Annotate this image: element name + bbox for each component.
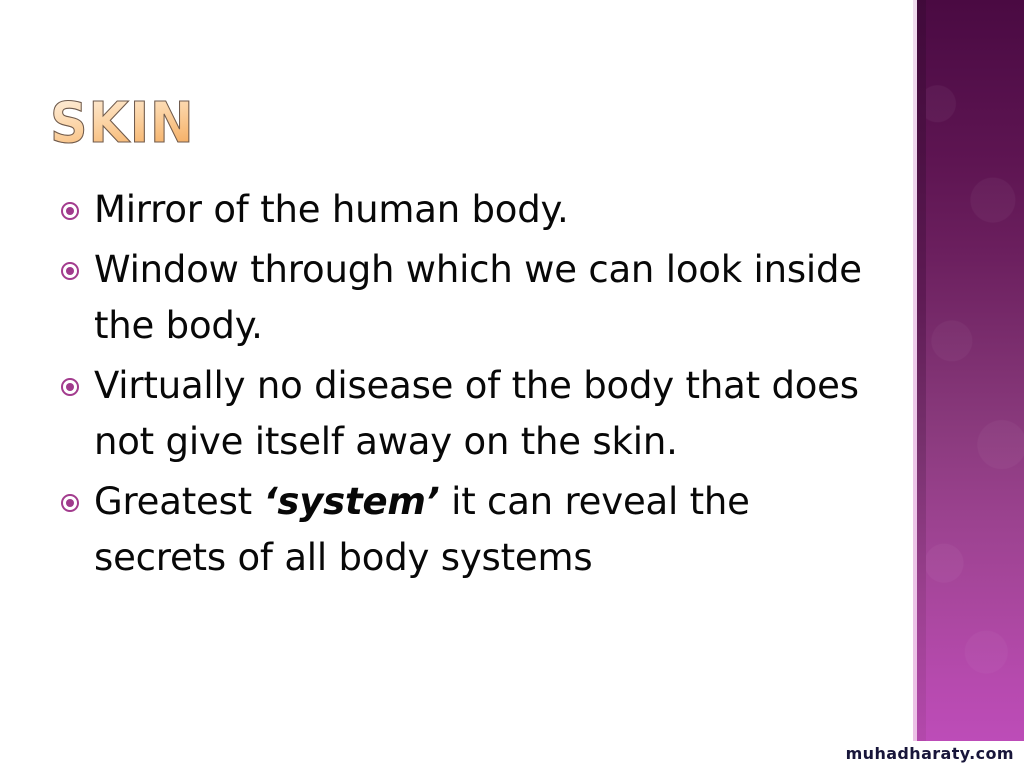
bullet-text-2: Window through which we can look inside … [94, 248, 862, 347]
bullet-text-3: Virtually no disease of the body that do… [94, 364, 859, 463]
bullet-text-1: Mirror of the human body. [94, 188, 569, 231]
bullet-item-3: Virtually no disease of the body that do… [58, 358, 878, 470]
side-panel-edge-highlight [913, 0, 917, 741]
slide-canvas: Skin Mirror of the human body. Window th… [0, 0, 1024, 768]
bullet-list: Mirror of the human body. Window through… [58, 182, 878, 590]
target-bullet-icon [61, 378, 79, 396]
target-bullet-icon [61, 494, 79, 512]
side-decoration-panel [913, 0, 1024, 741]
site-watermark: muhadharaty.com [846, 744, 1014, 763]
side-panel-inner-band [917, 0, 926, 741]
bullet-item-2: Window through which we can look inside … [58, 242, 878, 354]
target-bullet-icon [61, 262, 79, 280]
slide-title: Skin [50, 93, 195, 155]
bullet-text-4-lead: Greatest [94, 480, 264, 523]
target-bullet-icon [61, 202, 79, 220]
bullet-item-4: Greatest ‘system’ it can reveal the secr… [58, 474, 878, 586]
bullet-text-4-emphasis: ‘system’ [264, 480, 440, 523]
bullet-item-1: Mirror of the human body. [58, 182, 878, 238]
side-panel-texture [913, 0, 1024, 741]
